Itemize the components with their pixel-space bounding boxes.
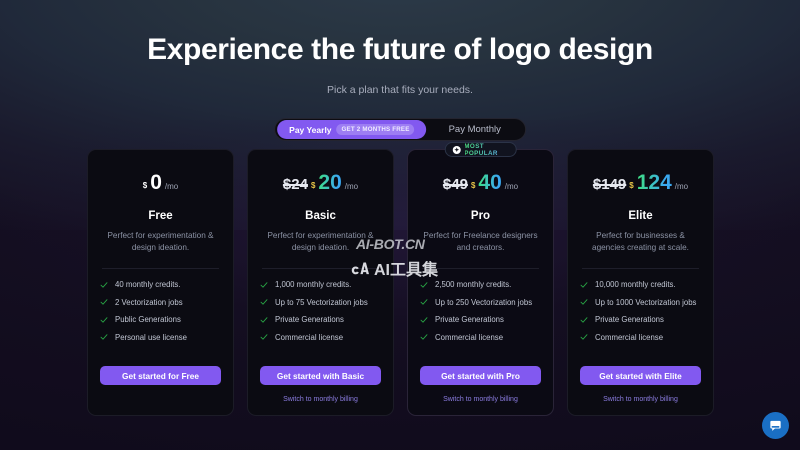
price-row: $149$124/mo — [580, 172, 701, 206]
most-popular-badge-label: MOST POPULAR — [464, 143, 509, 157]
yearly-discount-badge: GET 2 MONTHS FREE — [337, 124, 415, 135]
pricing-card-basic: $24$20/moBasicPerfect for experimentatio… — [247, 149, 394, 416]
cta-wrapper: Get started with EliteSwitch to monthly … — [580, 366, 701, 404]
current-price: 20 — [318, 172, 341, 193]
pricing-page: Experience the future of logo design Pic… — [0, 0, 800, 450]
toggle-pay-monthly[interactable]: Pay Monthly — [427, 120, 523, 139]
pricing-card-free: $0/moFreePerfect for experimentation & d… — [87, 149, 234, 416]
current-price: 0 — [150, 172, 162, 193]
check-icon — [420, 281, 428, 289]
pricing-card-pro: MOST POPULAR$49$40/moProPerfect for Free… — [407, 149, 554, 416]
feature-label: Personal use license — [115, 333, 187, 342]
check-icon — [580, 333, 588, 341]
plan-description: Perfect for businesses & agencies creati… — [580, 230, 701, 254]
feature-list: 2,500 monthly credits.Up to 250 Vectoriz… — [420, 280, 541, 342]
price-period: /mo — [165, 182, 178, 191]
feature-list: 1,000 monthly credits.Up to 75 Vectoriza… — [260, 280, 381, 342]
current-price: 124 — [637, 172, 672, 193]
plan-name: Pro — [420, 210, 541, 222]
check-icon — [580, 281, 588, 289]
current-price: 40 — [478, 172, 501, 193]
list-item: Commercial license — [420, 333, 541, 342]
feature-label: 2,500 monthly credits. — [435, 280, 511, 289]
list-item: Commercial license — [580, 333, 701, 342]
feature-list: 10,000 monthly credits.Up to 1000 Vector… — [580, 280, 701, 342]
plan-name: Elite — [580, 210, 701, 222]
price-row: $49$40/mo — [420, 172, 541, 206]
cta-wrapper: Get started for Free — [100, 366, 221, 404]
old-price: $149 — [593, 176, 626, 193]
check-icon — [420, 333, 428, 341]
list-item: 40 monthly credits. — [100, 280, 221, 289]
old-price: $49 — [443, 176, 468, 193]
feature-label: Commercial license — [435, 333, 503, 342]
list-item: Private Generations — [260, 315, 381, 324]
list-item: Up to 250 Vectorization jobs — [420, 298, 541, 307]
currency-symbol: $ — [471, 181, 475, 190]
feature-list: 40 monthly credits.2 Vectorization jobsP… — [100, 280, 221, 342]
check-icon — [260, 281, 268, 289]
feature-label: Private Generations — [435, 315, 504, 324]
feature-label: 2 Vectorization jobs — [115, 298, 183, 307]
cta-wrapper: Get started with BasicSwitch to monthly … — [260, 366, 381, 404]
switch-billing-link[interactable]: Switch to monthly billing — [260, 396, 381, 403]
card-divider — [582, 268, 699, 269]
plan-description: Perfect for experimentation & design ide… — [100, 230, 221, 254]
check-icon — [100, 333, 108, 341]
list-item: Commercial license — [260, 333, 381, 342]
list-item: 1,000 monthly credits. — [260, 280, 381, 289]
currency-symbol: $ — [629, 181, 633, 190]
get-started-button[interactable]: Get started with Pro — [420, 366, 541, 385]
list-item: 10,000 monthly credits. — [580, 280, 701, 289]
feature-label: 10,000 monthly credits. — [595, 280, 676, 289]
feature-label: 40 monthly credits. — [115, 280, 180, 289]
list-item: 2 Vectorization jobs — [100, 298, 221, 307]
price-row: $24$20/mo — [260, 172, 381, 206]
get-started-button[interactable]: Get started with Elite — [580, 366, 701, 385]
feature-label: Private Generations — [595, 315, 664, 324]
billing-period-toggle[interactable]: Pay Yearly GET 2 MONTHS FREE Pay Monthly — [274, 118, 526, 141]
check-icon — [580, 316, 588, 324]
check-icon — [260, 333, 268, 341]
check-icon — [260, 316, 268, 324]
card-divider — [422, 268, 539, 269]
most-popular-badge: MOST POPULAR — [444, 142, 517, 157]
price-period: /mo — [505, 182, 518, 191]
switch-billing-link[interactable]: Switch to monthly billing — [420, 396, 541, 403]
check-icon — [420, 298, 428, 306]
currency-symbol: $ — [143, 181, 147, 190]
page-title: Experience the future of logo design — [0, 33, 800, 67]
check-icon — [260, 298, 268, 306]
price-row: $0/mo — [100, 172, 221, 206]
check-icon — [420, 316, 428, 324]
sparkle-icon — [452, 146, 460, 154]
check-icon — [100, 281, 108, 289]
toggle-pay-monthly-label: Pay Monthly — [449, 124, 501, 135]
feature-label: Private Generations — [275, 315, 344, 324]
list-item: Private Generations — [580, 315, 701, 324]
plan-name: Basic — [260, 210, 381, 222]
feature-label: Commercial license — [595, 333, 663, 342]
list-item: 2,500 monthly credits. — [420, 280, 541, 289]
currency-symbol: $ — [311, 181, 315, 190]
list-item: Personal use license — [100, 333, 221, 342]
get-started-button[interactable]: Get started with Basic — [260, 366, 381, 385]
price-period: /mo — [345, 182, 358, 191]
card-divider — [262, 268, 379, 269]
check-icon — [100, 298, 108, 306]
check-icon — [100, 316, 108, 324]
list-item: Up to 1000 Vectorization jobs — [580, 298, 701, 307]
chat-bubble-icon[interactable] — [762, 412, 789, 439]
pricing-cards-row: $0/moFreePerfect for experimentation & d… — [87, 149, 715, 416]
plan-description: Perfect for experimentation & design ide… — [260, 230, 381, 254]
plan-name: Free — [100, 210, 221, 222]
list-item: Private Generations — [420, 315, 541, 324]
feature-label: Public Generations — [115, 315, 181, 324]
feature-label: Up to 250 Vectorization jobs — [435, 298, 532, 307]
old-price: $24 — [283, 176, 308, 193]
feature-label: Up to 1000 Vectorization jobs — [595, 298, 696, 307]
page-subtitle: Pick a plan that fits your needs. — [0, 84, 800, 96]
feature-label: 1,000 monthly credits. — [275, 280, 351, 289]
toggle-pay-yearly-label: Pay Yearly — [289, 125, 331, 135]
feature-label: Up to 75 Vectorization jobs — [275, 298, 368, 307]
check-icon — [580, 298, 588, 306]
price-period: /mo — [675, 182, 688, 191]
pricing-card-elite: $149$124/moElitePerfect for businesses &… — [567, 149, 714, 416]
feature-label: Commercial license — [275, 333, 343, 342]
get-started-button[interactable]: Get started for Free — [100, 366, 221, 385]
cta-wrapper: Get started with ProSwitch to monthly bi… — [420, 366, 541, 404]
switch-link-spacer — [100, 385, 221, 403]
toggle-pay-yearly[interactable]: Pay Yearly GET 2 MONTHS FREE — [277, 120, 426, 139]
list-item: Up to 75 Vectorization jobs — [260, 298, 381, 307]
plan-description: Perfect for Freelance designers and crea… — [420, 230, 541, 254]
list-item: Public Generations — [100, 315, 221, 324]
switch-billing-link[interactable]: Switch to monthly billing — [580, 396, 701, 403]
card-divider — [102, 268, 219, 269]
